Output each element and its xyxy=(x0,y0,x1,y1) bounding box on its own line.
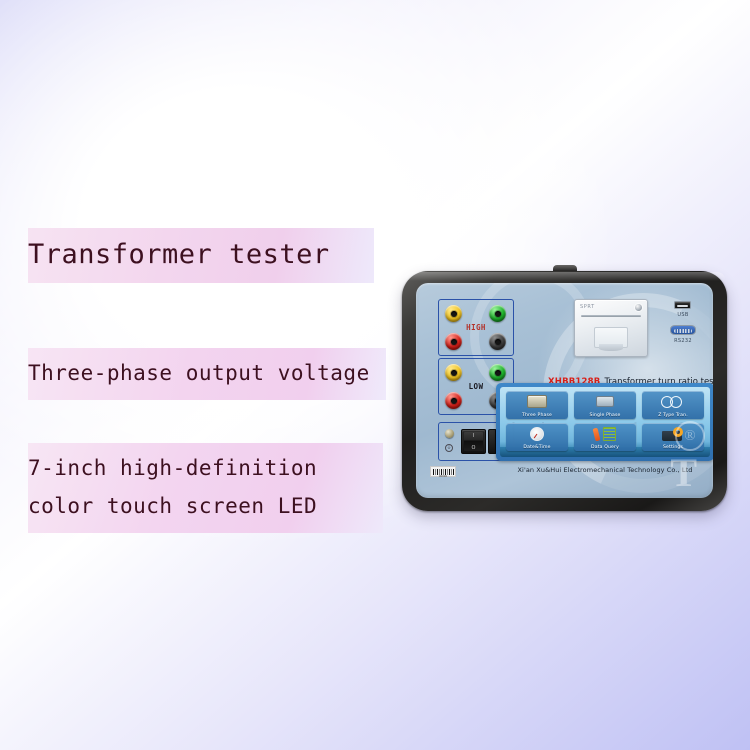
jack-hole xyxy=(495,370,501,376)
feature-line: 7-inch high-definition xyxy=(28,449,369,487)
feature-text-block-1: Transformer tester xyxy=(28,228,374,283)
laptop-gear-icon xyxy=(642,425,704,442)
tile-label: Settings xyxy=(642,445,704,450)
ground-symbol-icon: ⏚ xyxy=(445,444,453,452)
tile-three-phase[interactable]: Three Phase xyxy=(506,391,568,419)
low-jack-red[interactable] xyxy=(445,392,462,409)
tile-single-phase[interactable]: Single Phase xyxy=(574,391,636,419)
transformer-small-icon xyxy=(574,393,636,410)
device-front-panel: HIGH LOW ⏚ I O xyxy=(416,283,713,498)
jack-hole xyxy=(495,339,501,345)
rs232-port[interactable] xyxy=(670,325,696,335)
printer-feed-button[interactable] xyxy=(635,304,642,311)
high-jack-green[interactable] xyxy=(489,305,506,322)
touch-screen-bezel: Three Phase Single Phase Z Type Tran. Da… xyxy=(496,383,713,461)
high-terminal-group: HIGH xyxy=(438,299,514,356)
jack-hole xyxy=(451,339,457,345)
tile-date-time[interactable]: Date&Time xyxy=(506,423,568,451)
feature-line: color touch screen LED xyxy=(28,487,369,525)
tile-label: Date&Time xyxy=(506,445,568,450)
feature-line: Transformer tester xyxy=(28,232,360,277)
printer-brand-label: SPRT xyxy=(580,304,595,310)
low-jack-yellow[interactable] xyxy=(445,364,462,381)
product-device-image: HIGH LOW ⏚ I O xyxy=(402,271,727,511)
usb-tongue xyxy=(677,305,688,307)
paper-slot xyxy=(581,315,641,317)
rs232-port-label: RS232 xyxy=(671,338,695,344)
ground-terminal-screw[interactable] xyxy=(445,429,454,438)
feature-line: Three-phase output voltage xyxy=(28,352,372,394)
tile-label: Z Type Tran. xyxy=(642,413,704,418)
transformer-icon xyxy=(506,393,568,410)
high-terminal-label: HIGH xyxy=(439,323,513,332)
high-jack-red[interactable] xyxy=(445,333,462,350)
feature-text-block-3: 7-inch high-definition color touch scree… xyxy=(28,443,383,533)
jack-hole xyxy=(495,311,501,317)
jack-hole xyxy=(451,398,457,404)
switch-on-mark: I xyxy=(471,433,476,439)
power-switch[interactable]: I O xyxy=(461,429,486,454)
company-name-label: Xi'an Xu&Hui Electromechanical Technolog… xyxy=(496,466,713,474)
barcode-number: 00000 xyxy=(433,475,454,478)
low-jack-green[interactable] xyxy=(489,364,506,381)
tile-data-query[interactable]: Data Query xyxy=(574,423,636,451)
tile-z-type[interactable]: Z Type Tran. xyxy=(642,391,704,419)
gauge-clock-icon xyxy=(506,425,568,442)
usb-port[interactable] xyxy=(674,301,691,309)
usb-port-label: USB xyxy=(671,312,695,318)
tile-settings[interactable]: Settings xyxy=(642,423,704,451)
high-jack-black[interactable] xyxy=(489,333,506,350)
feature-text-block-2: Three-phase output voltage xyxy=(28,348,386,400)
jack-hole xyxy=(451,370,457,376)
tile-label: Single Phase xyxy=(574,413,636,418)
db9-pins xyxy=(674,329,692,333)
lcd-screen[interactable]: Three Phase Single Phase Z Type Tran. Da… xyxy=(500,387,710,457)
switch-off-mark: O xyxy=(471,445,476,451)
tile-label: Three Phase xyxy=(506,413,568,418)
tile-label: Data Query xyxy=(574,445,636,450)
printer-door[interactable] xyxy=(594,327,628,348)
jack-hole xyxy=(451,311,457,317)
high-jack-yellow[interactable] xyxy=(445,305,462,322)
winding-rings-icon xyxy=(642,393,704,410)
thermal-printer-module[interactable]: SPRT xyxy=(574,299,648,357)
document-pen-icon xyxy=(574,425,636,442)
menu-tile-grid: Three Phase Single Phase Z Type Tran. Da… xyxy=(506,391,704,451)
barcode-sticker: 00000 xyxy=(430,466,456,477)
